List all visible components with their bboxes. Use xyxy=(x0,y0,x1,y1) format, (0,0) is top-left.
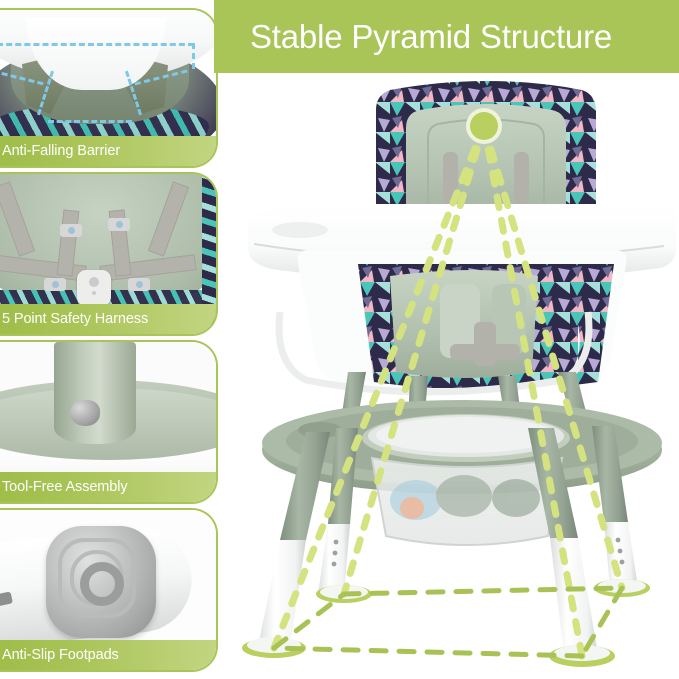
panel-caption-label: Tool-Free Assembly xyxy=(2,479,128,495)
panel-caption-anti-falling-barrier: Anti-Falling Barrier xyxy=(0,136,216,166)
anti-slip-footpad-image xyxy=(46,526,156,638)
strap-adjuster-upper-right xyxy=(108,218,130,231)
feature-panel-five-point-harness: 5 Point Safety Harness xyxy=(0,172,218,336)
panel-caption-label: 5 Point Safety Harness xyxy=(2,311,148,327)
feature-panel-anti-slip-footpads: Anti-Slip Footpads xyxy=(0,508,218,672)
page-title: Stable Pyramid Structure xyxy=(250,18,612,56)
strap-adjuster-lower-left xyxy=(44,278,66,291)
panel-caption-label: Anti-Slip Footpads xyxy=(2,647,119,663)
pyramid-apex-node xyxy=(466,108,502,144)
pyramid-base-edge-front xyxy=(274,648,582,656)
highlight-dash-right xyxy=(192,43,195,69)
feature-panel-anti-falling-barrier: Anti-Falling Barrier xyxy=(0,8,218,168)
panel-caption-anti-slip-footpads: Anti-Slip Footpads xyxy=(0,640,216,670)
panel-caption-label: Anti-Falling Barrier xyxy=(2,143,120,159)
strap-adjuster-upper-left xyxy=(60,224,82,237)
infographic-page: Stable Pyramid Structure Anti-Falling Ba… xyxy=(0,0,679,679)
leg-post xyxy=(54,342,136,444)
panel-caption-five-point-harness: 5 Point Safety Harness xyxy=(0,304,216,334)
panel-caption-tool-free-assembly: Tool-Free Assembly xyxy=(0,472,216,502)
pattern-fabric-right xyxy=(202,174,216,324)
highlight-dash-top xyxy=(0,43,194,46)
feature-panel-tool-free-assembly: Tool-Free Assembly xyxy=(0,340,218,504)
footpad-ring-inner xyxy=(80,562,124,606)
product-image-high-chair xyxy=(240,72,679,679)
harness-buckle xyxy=(77,270,111,306)
highlight-dash-bottom xyxy=(48,120,132,123)
release-knob xyxy=(70,400,100,426)
header-banner: Stable Pyramid Structure xyxy=(214,0,679,73)
mesh-storage-basket xyxy=(372,458,562,545)
strap-adjuster-lower-right xyxy=(128,278,150,291)
